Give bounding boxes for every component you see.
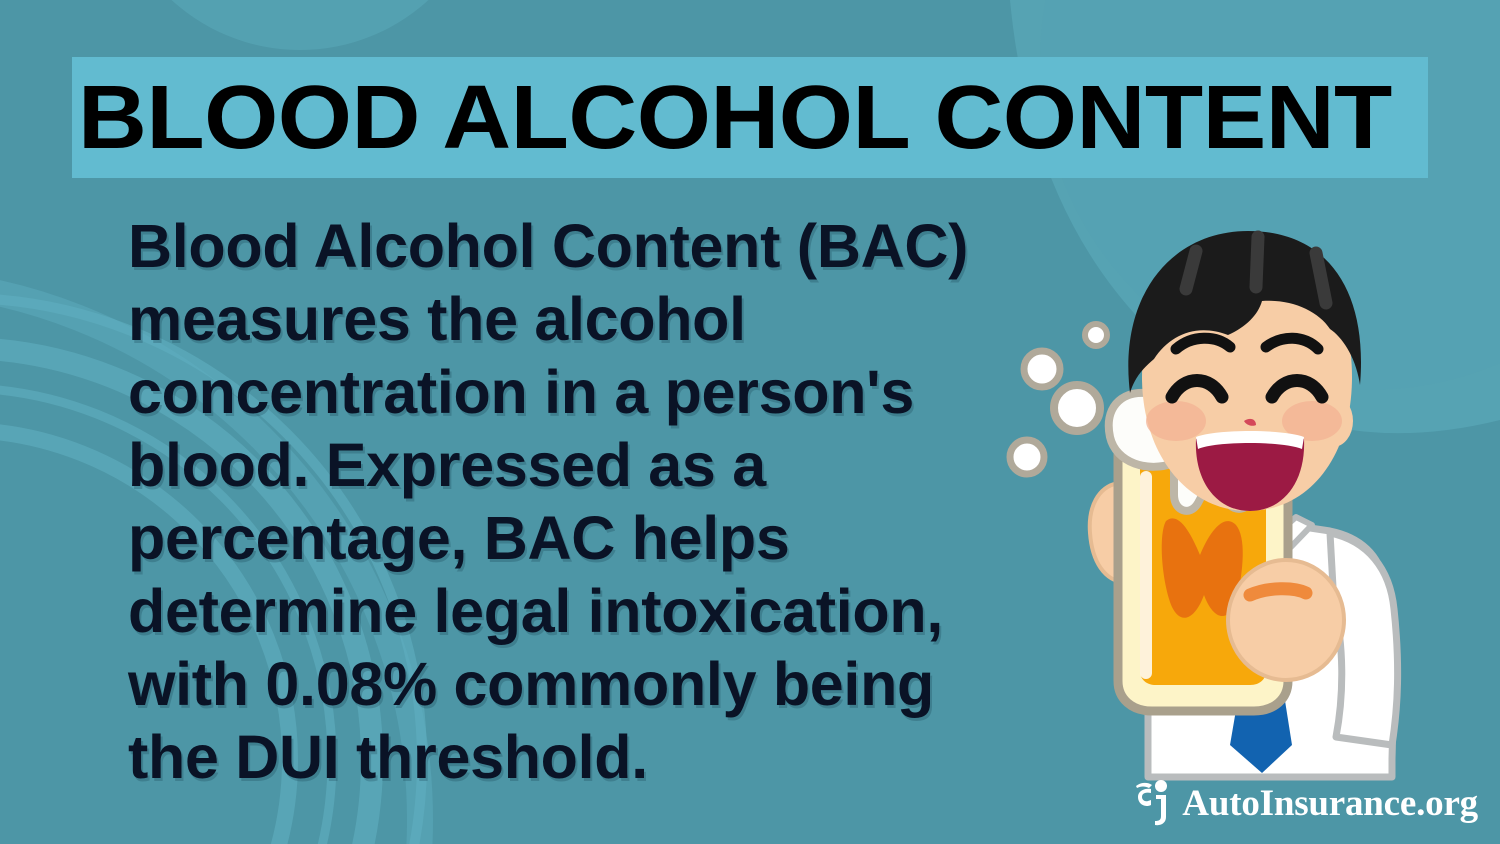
body-paragraph: Blood Alcohol Content (BAC) measures the… (128, 210, 1028, 794)
body-line: percentage, BAC helps (128, 502, 1028, 575)
body-line: blood. Expressed as a (128, 429, 1028, 502)
man-with-beer-icon (1000, 225, 1460, 785)
body-line: with 0.08% commonly being (128, 648, 1028, 721)
body-line: Blood Alcohol Content (BAC) (128, 210, 1028, 283)
page-title: BLOOD ALCOHOL CONTENT (78, 56, 1500, 180)
body-line: measures the alcohol (128, 283, 1028, 356)
aj-monogram-icon (1136, 780, 1170, 826)
fist-hand-icon (1228, 560, 1344, 680)
infographic-canvas: BLOOD ALCOHOL CONTENT Blood Alcohol Cont… (0, 0, 1500, 844)
body-line: the DUI threshold. (128, 721, 1028, 794)
logo-wordmark: AutoInsurance.org (1182, 785, 1478, 822)
man-holding-beer-illustration (1000, 225, 1460, 785)
body-line: determine legal intoxication, (128, 575, 1028, 648)
brand-logo[interactable]: AutoInsurance.org (1136, 780, 1478, 826)
body-line: concentration in a person's (128, 356, 1028, 429)
